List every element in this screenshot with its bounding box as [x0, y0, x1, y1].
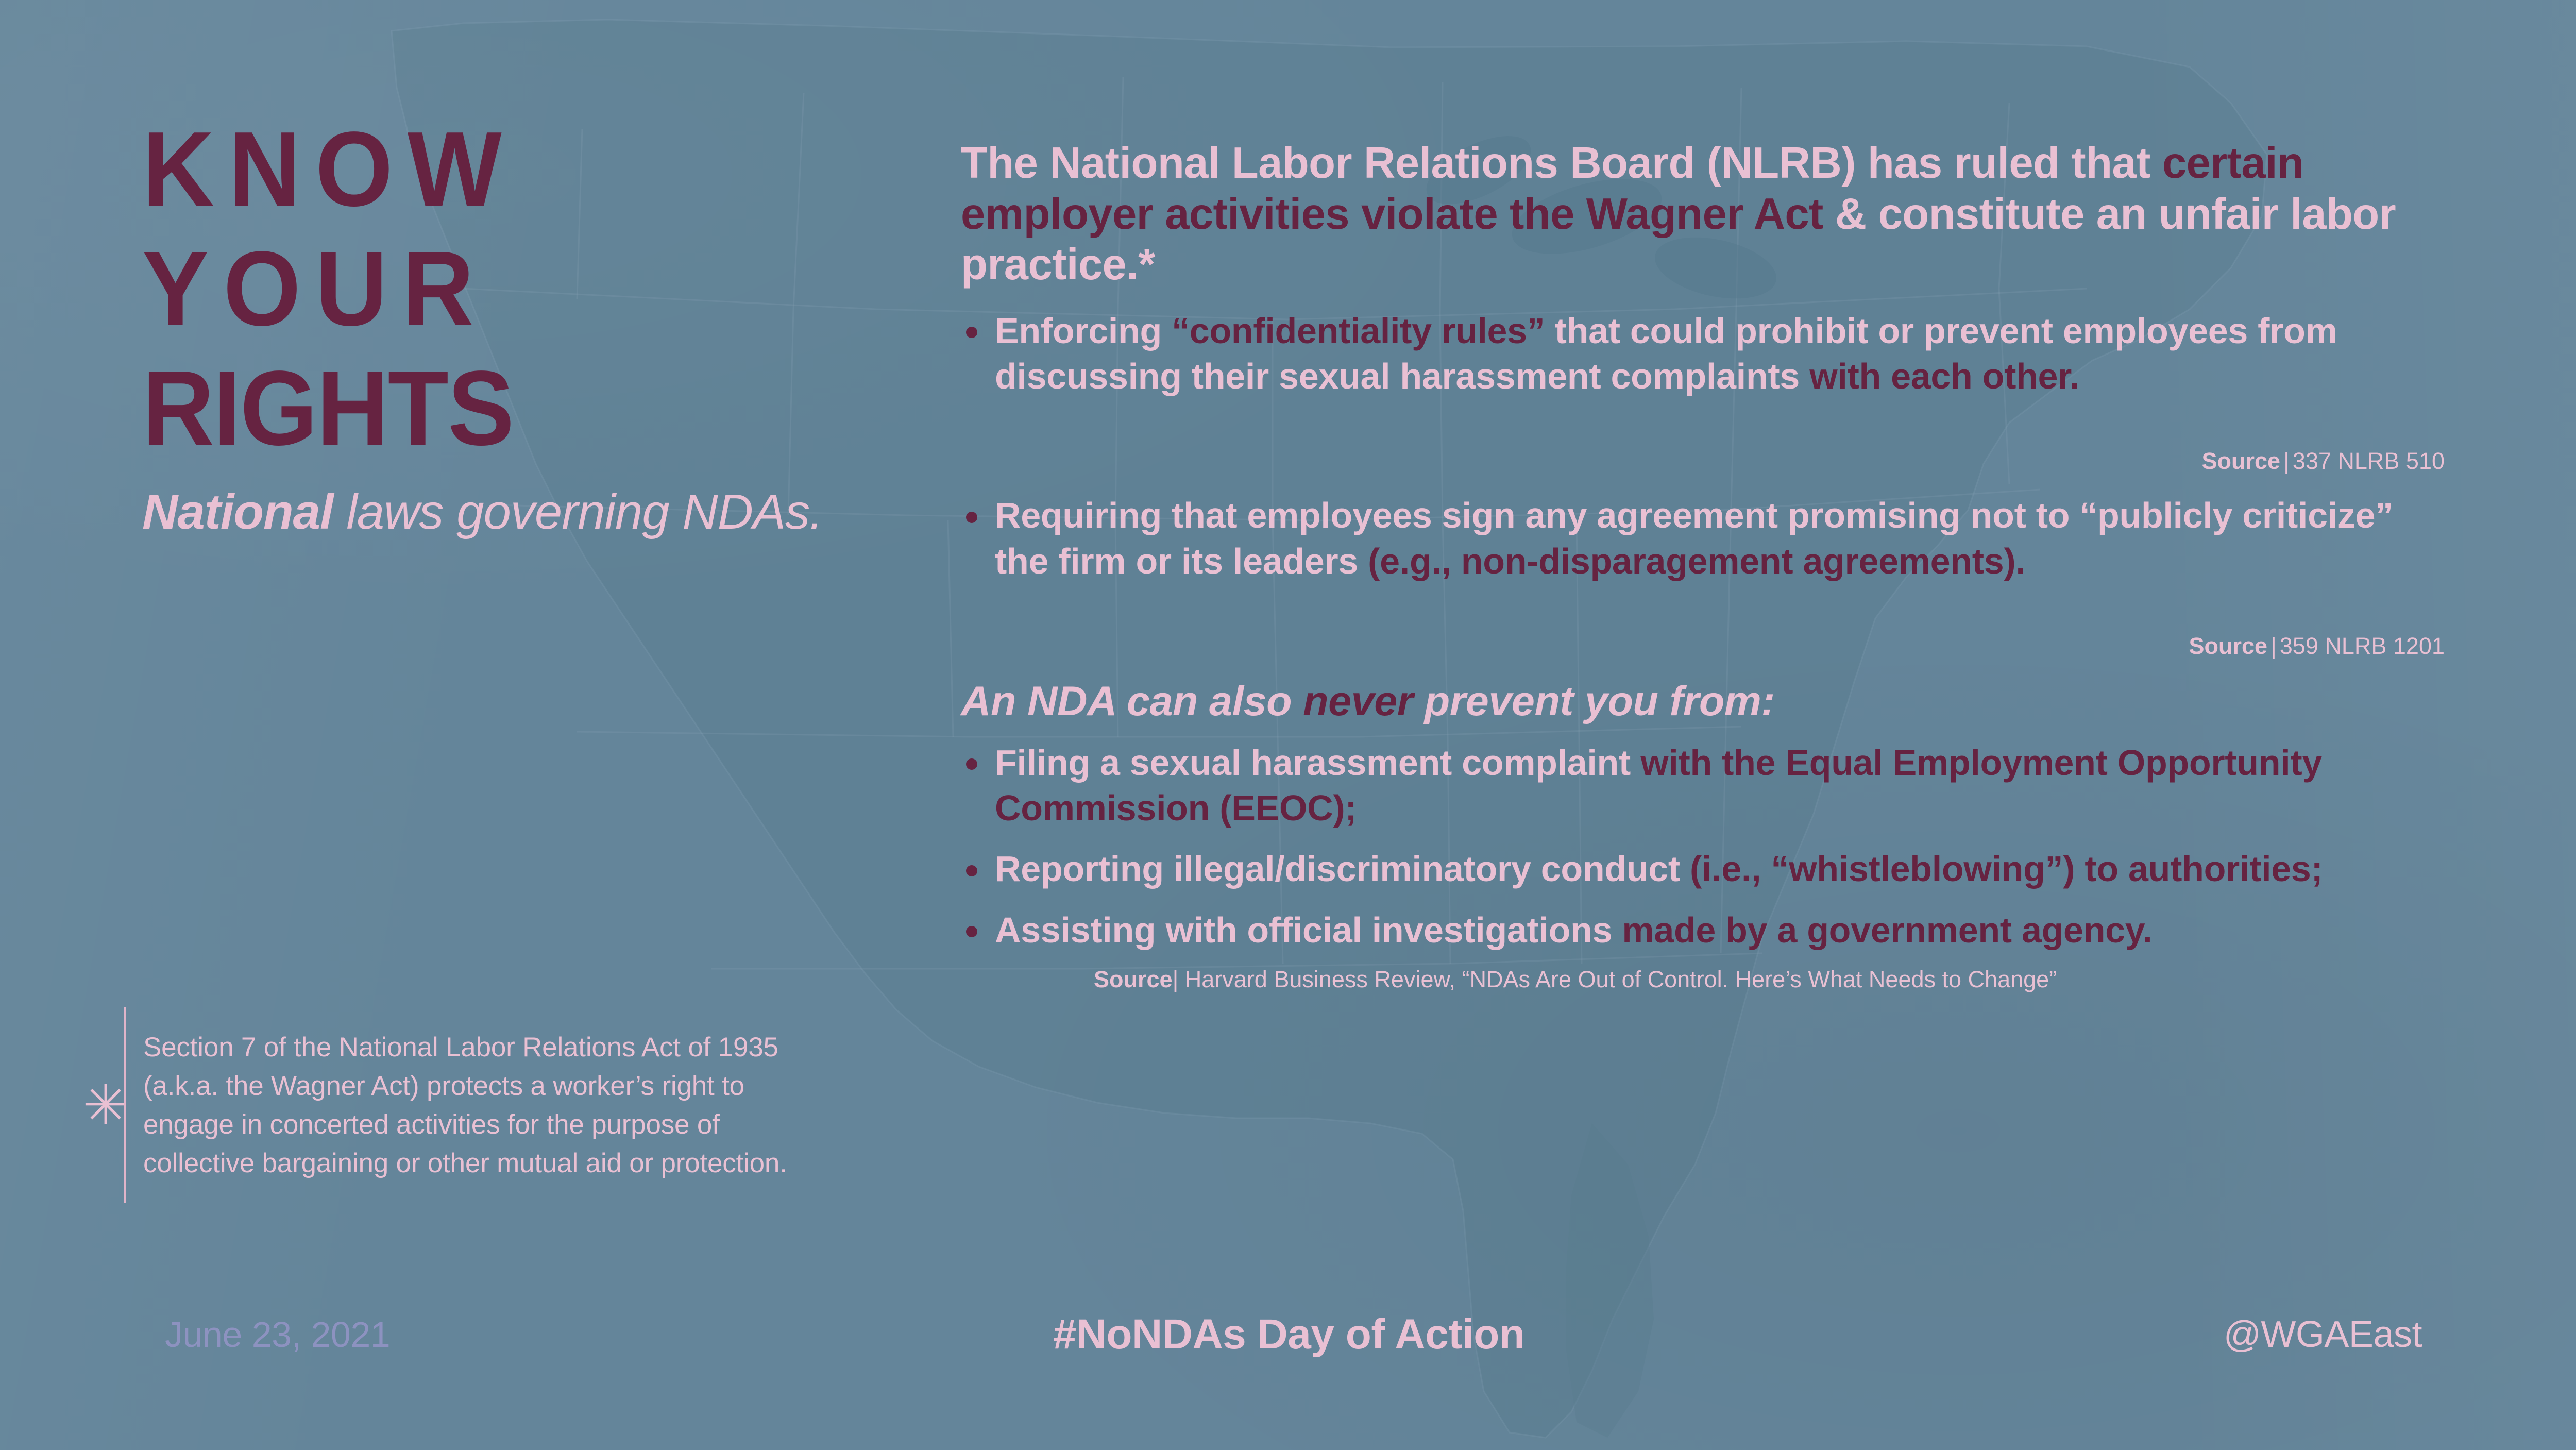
nlrb-heading: The National Labor Relations Board (NLRB…	[961, 138, 2445, 291]
bullet-list-protections: Filing a sexual harassment complaint wit…	[961, 740, 2445, 953]
list-item: Assisting with official investigations m…	[961, 907, 2445, 953]
asterisk-icon: ✳	[82, 1077, 118, 1133]
kicker-part-3: prevent you from:	[1413, 678, 1775, 724]
source-citation: Source|359 NLRB 1201	[995, 632, 2445, 660]
subtitle-rest: laws governing NDAs.	[333, 484, 823, 539]
bullet-seg-dark-1: “confidentiality rules”	[1172, 311, 1545, 351]
source-label: Source	[2189, 633, 2268, 659]
bullet-seg-dark-1: made by a government agency.	[1622, 910, 2152, 950]
subtitle: National laws governing NDAs.	[142, 486, 894, 538]
source-label: Source	[2202, 448, 2281, 474]
source-value: 359 NLRB 1201	[2280, 633, 2445, 659]
bullet-seg-dark-2: with each other.	[1809, 356, 2079, 396]
poster-canvas: KNOW YOUR RIGHTS National laws governing…	[0, 0, 2576, 1450]
bullet-text: Reporting illegal/discriminatory conduct…	[995, 849, 2323, 889]
heading-part-1: The National Labor Relations Board (NLRB…	[961, 139, 2162, 188]
bullet-text: Assisting with official investigations m…	[995, 910, 2152, 950]
bullet-seg-dark-1: (e.g., non-disparagement agreements).	[1368, 541, 2025, 581]
source-value: Harvard Business Review, “NDAs Are Out o…	[1185, 966, 2057, 992]
footnote-block: ✳ Section 7 of the National Labor Relati…	[82, 1007, 855, 1203]
list-item: Filing a sexual harassment complaint wit…	[961, 740, 2445, 831]
right-column: The National Labor Relations Board (NLRB…	[961, 138, 2445, 993]
event-date: June 23, 2021	[165, 1314, 390, 1355]
bullet-text: Requiring that employees sign any agreem…	[995, 495, 2445, 626]
bullet-dot-icon	[966, 327, 977, 338]
bullet-list-violations: Enforcing “confidentiality rules” that c…	[961, 308, 2445, 660]
kicker-part-1: An NDA can also	[961, 678, 1303, 724]
campaign-hashtag: #NoNDAs Day of Action	[1053, 1310, 1525, 1359]
bullet-dot-icon	[966, 758, 977, 770]
footer-bar: June 23, 2021 #NoNDAs Day of Action @WGA…	[0, 1299, 2576, 1371]
title-line-rights: RIGHTS	[142, 358, 849, 460]
bullet-dot-icon	[966, 926, 977, 937]
social-handle[interactable]: @WGAEast	[2224, 1313, 2422, 1356]
nda-kicker-heading: An NDA can also never prevent you from:	[961, 679, 2445, 724]
title-line-your: YOUR	[142, 238, 849, 340]
list-item: Reporting illegal/discriminatory conduct…	[961, 846, 2445, 891]
footnote-text: Section 7 of the National Labor Relation…	[143, 1028, 818, 1183]
hbr-source-citation: Source| Harvard Business Review, “NDAs A…	[961, 966, 2445, 993]
list-item: Enforcing “confidentiality rules” that c…	[961, 308, 2445, 476]
source-separator: |	[2267, 633, 2280, 659]
source-value: 337 NLRB 510	[2293, 448, 2445, 474]
subtitle-strong: National	[142, 484, 333, 539]
source-separator: |	[2280, 448, 2293, 474]
bullet-text: Enforcing “confidentiality rules” that c…	[995, 311, 2445, 442]
left-column: KNOW YOUR RIGHTS National laws governing…	[142, 119, 894, 538]
title-line-know: KNOW	[142, 119, 849, 221]
list-item: Requiring that employees sign any agreem…	[961, 493, 2445, 660]
bullet-seg-pink-lead: Assisting with official investigations	[995, 910, 1622, 950]
source-citation: Source|337 NLRB 510	[995, 447, 2445, 475]
footnote-divider	[124, 1007, 126, 1203]
bullet-text: Filing a sexual harassment complaint wit…	[995, 743, 2322, 828]
source-label: Source	[1094, 966, 1173, 992]
bullet-dot-icon	[966, 865, 977, 876]
bullet-dot-icon	[966, 512, 977, 523]
bullet-seg-pink-lead: Enforcing	[995, 311, 1172, 351]
source-separator: |	[1173, 966, 1179, 992]
kicker-part-2: never	[1303, 678, 1413, 724]
bullet-seg-pink-lead: Reporting illegal/discriminatory conduct	[995, 849, 1690, 889]
bullet-seg-pink-lead: Filing a sexual harassment complaint	[995, 743, 1640, 783]
bullet-seg-dark-1: (i.e., “whistleblowing”) to authorities;	[1690, 849, 2323, 889]
